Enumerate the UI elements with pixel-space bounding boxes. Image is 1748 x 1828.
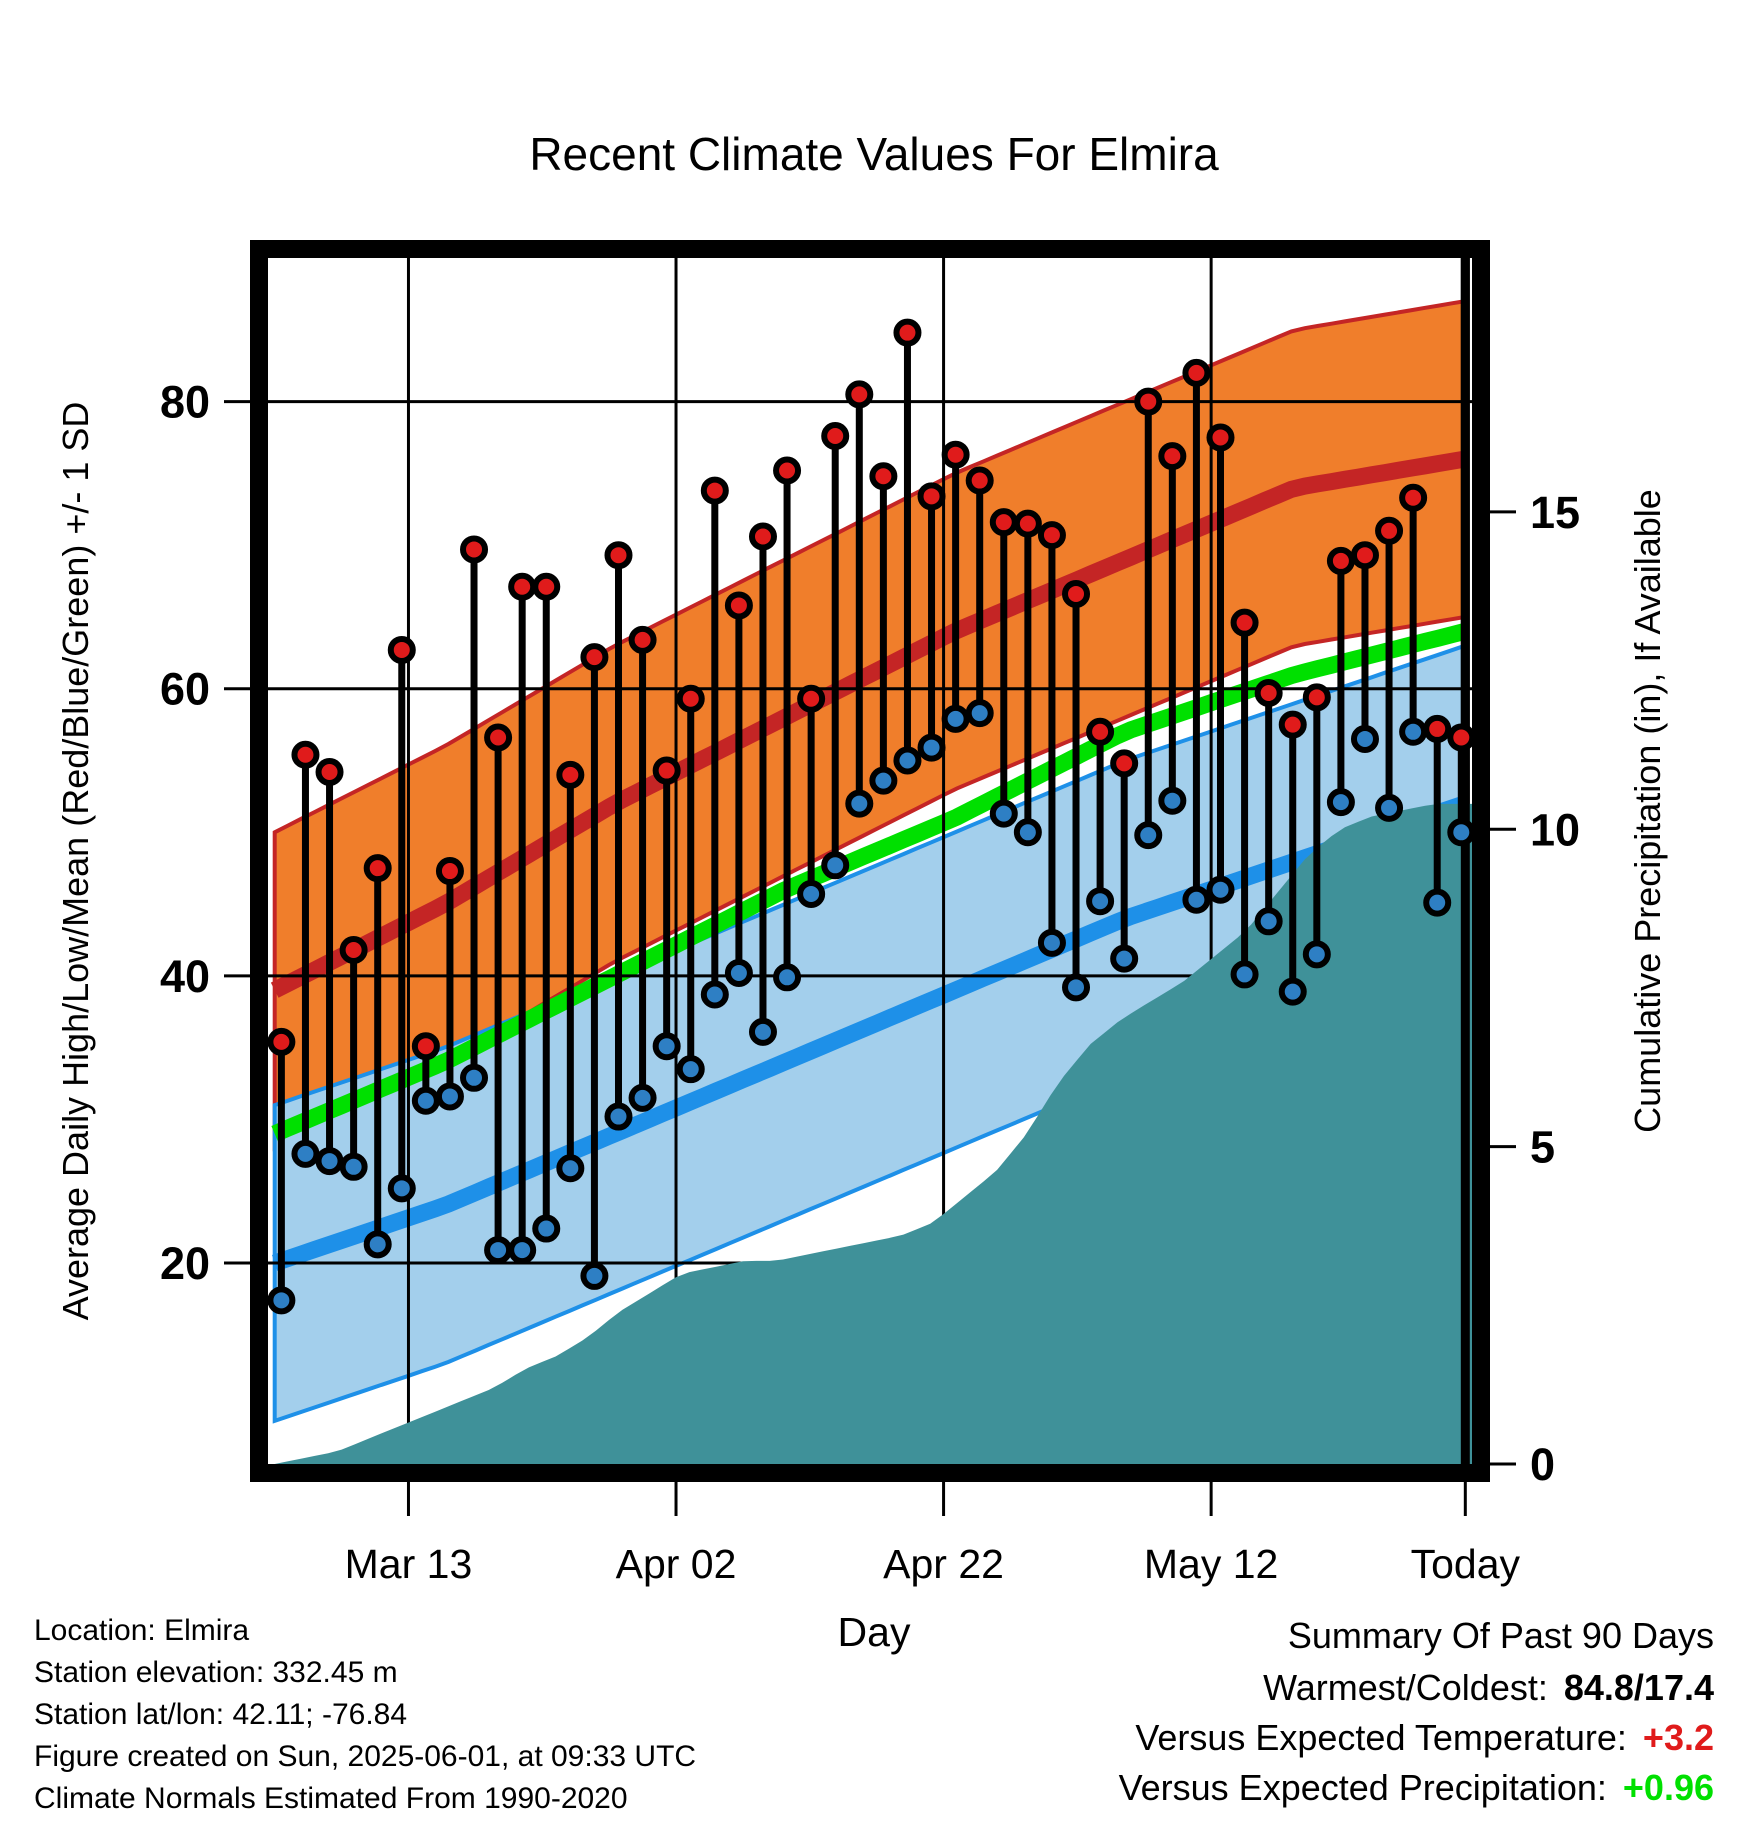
low-marker bbox=[1017, 821, 1039, 843]
low-marker bbox=[463, 1067, 485, 1089]
high-marker bbox=[343, 939, 365, 961]
low-marker bbox=[1209, 879, 1231, 901]
climate-chart: 90DaysRecent Climate Values For Elmira20… bbox=[0, 0, 1748, 1828]
high-marker bbox=[1113, 752, 1135, 774]
low-marker bbox=[319, 1150, 341, 1172]
footer-line-3: Figure created on Sun, 2025-06-01, at 09… bbox=[34, 1740, 696, 1773]
high-marker bbox=[1065, 583, 1087, 605]
high-marker bbox=[1089, 721, 1111, 743]
low-marker bbox=[391, 1177, 413, 1199]
low-marker bbox=[1306, 943, 1328, 965]
high-marker bbox=[319, 761, 341, 783]
high-marker bbox=[1330, 550, 1352, 572]
y2tick-label-3: 15 bbox=[1530, 487, 1580, 538]
y2tick-label-0: 0 bbox=[1530, 1439, 1555, 1490]
low-marker bbox=[1426, 892, 1448, 914]
low-marker bbox=[535, 1218, 557, 1240]
summary-value-1: +3.2 bbox=[1643, 1717, 1714, 1758]
low-marker bbox=[824, 854, 846, 876]
y2tick-label-2: 10 bbox=[1530, 804, 1580, 855]
high-marker bbox=[656, 760, 678, 782]
high-marker bbox=[1234, 612, 1256, 634]
high-marker bbox=[270, 1031, 292, 1053]
high-marker bbox=[487, 727, 509, 749]
summary-label-2: Versus Expected Precipitation: bbox=[1119, 1767, 1607, 1808]
low-marker bbox=[343, 1156, 365, 1178]
high-marker bbox=[1354, 544, 1376, 566]
summary-value-0: 84.8/17.4 bbox=[1564, 1667, 1714, 1708]
high-marker bbox=[872, 465, 894, 487]
low-marker bbox=[1137, 824, 1159, 846]
y-axis-label: Average Daily High/Low/Mean (Red/Blue/Gr… bbox=[55, 402, 96, 1321]
high-marker bbox=[1450, 727, 1472, 749]
low-marker bbox=[1330, 791, 1352, 813]
low-marker bbox=[1161, 790, 1183, 812]
high-marker bbox=[463, 538, 485, 560]
high-marker bbox=[752, 526, 774, 548]
high-marker bbox=[921, 485, 943, 507]
footer-line-0: Location: Elmira bbox=[34, 1614, 249, 1647]
low-marker bbox=[1089, 890, 1111, 912]
high-marker bbox=[680, 688, 702, 710]
ytick-label-2: 60 bbox=[160, 664, 210, 715]
low-marker bbox=[270, 1289, 292, 1311]
low-marker bbox=[776, 966, 798, 988]
footer-line-1: Station elevation: 332.45 m bbox=[34, 1656, 398, 1689]
high-marker bbox=[1185, 362, 1207, 384]
high-marker bbox=[632, 629, 654, 651]
high-marker bbox=[583, 646, 605, 668]
ytick-label-3: 80 bbox=[160, 377, 210, 428]
low-marker bbox=[800, 883, 822, 905]
low-marker bbox=[1065, 976, 1087, 998]
ytick-label-0: 20 bbox=[160, 1238, 210, 1289]
y2-axis-label: Cumulative Precipitation (in), If Availa… bbox=[1627, 489, 1668, 1133]
high-marker bbox=[776, 459, 798, 481]
low-marker bbox=[367, 1233, 389, 1255]
high-marker bbox=[896, 322, 918, 344]
low-marker bbox=[1402, 721, 1424, 743]
low-marker bbox=[1185, 889, 1207, 911]
footer-line-4: Climate Normals Estimated From 1990-2020 bbox=[34, 1782, 628, 1815]
high-marker bbox=[969, 470, 991, 492]
high-marker bbox=[1161, 445, 1183, 467]
low-marker bbox=[993, 803, 1015, 825]
low-marker bbox=[704, 984, 726, 1006]
high-marker bbox=[511, 576, 533, 598]
low-marker bbox=[583, 1265, 605, 1287]
low-marker bbox=[1234, 963, 1256, 985]
low-marker bbox=[415, 1090, 437, 1112]
summary-label-1: Versus Expected Temperature: bbox=[1135, 1717, 1627, 1758]
xtick-label-2: Apr 22 bbox=[883, 1541, 1004, 1587]
footer-line-2: Station lat/lon: 42.11; -76.84 bbox=[34, 1698, 407, 1731]
low-marker bbox=[969, 702, 991, 724]
high-marker bbox=[294, 744, 316, 766]
xtick-label-1: Apr 02 bbox=[616, 1541, 737, 1587]
low-marker bbox=[632, 1087, 654, 1109]
high-marker bbox=[439, 860, 461, 882]
high-marker bbox=[535, 576, 557, 598]
high-marker bbox=[848, 383, 870, 405]
xtick-label-3: May 12 bbox=[1144, 1541, 1278, 1587]
low-marker bbox=[872, 770, 894, 792]
low-marker bbox=[607, 1106, 629, 1128]
low-marker bbox=[752, 1021, 774, 1043]
low-marker bbox=[656, 1035, 678, 1057]
high-marker bbox=[559, 764, 581, 786]
low-marker bbox=[1258, 910, 1280, 932]
high-marker bbox=[945, 444, 967, 466]
low-marker bbox=[1113, 948, 1135, 970]
low-marker bbox=[487, 1239, 509, 1261]
high-marker bbox=[800, 688, 822, 710]
high-marker bbox=[391, 639, 413, 661]
high-marker bbox=[367, 857, 389, 879]
low-marker bbox=[559, 1157, 581, 1179]
high-marker bbox=[1209, 426, 1231, 448]
low-marker bbox=[728, 962, 750, 984]
high-marker bbox=[1137, 391, 1159, 413]
low-marker bbox=[1282, 981, 1304, 1003]
low-marker bbox=[1354, 728, 1376, 750]
low-marker bbox=[1378, 797, 1400, 819]
high-marker bbox=[824, 425, 846, 447]
chart-title: Recent Climate Values For Elmira bbox=[529, 128, 1219, 180]
low-marker bbox=[1450, 821, 1472, 843]
high-marker bbox=[993, 511, 1015, 533]
summary-value-2: +0.96 bbox=[1623, 1767, 1714, 1808]
high-marker bbox=[607, 544, 629, 566]
low-marker bbox=[294, 1143, 316, 1165]
high-marker bbox=[1258, 682, 1280, 704]
high-marker bbox=[1041, 524, 1063, 546]
high-marker bbox=[1282, 714, 1304, 736]
low-marker bbox=[511, 1239, 533, 1261]
low-marker bbox=[921, 737, 943, 759]
high-marker bbox=[1017, 513, 1039, 535]
high-marker bbox=[1306, 686, 1328, 708]
low-marker bbox=[680, 1058, 702, 1080]
low-marker bbox=[1041, 932, 1063, 954]
ytick-label-1: 40 bbox=[160, 951, 210, 1002]
xtick-label-0: Mar 13 bbox=[345, 1541, 473, 1587]
low-marker bbox=[848, 793, 870, 815]
high-marker bbox=[1402, 487, 1424, 509]
high-marker bbox=[1426, 718, 1448, 740]
summary-label-0: Warmest/Coldest: bbox=[1263, 1667, 1548, 1708]
chart-canvas: 90DaysRecent Climate Values For Elmira20… bbox=[0, 0, 1748, 1828]
low-marker bbox=[945, 708, 967, 730]
high-marker bbox=[704, 480, 726, 502]
xtick-label-4: Today bbox=[1411, 1541, 1521, 1587]
low-marker bbox=[439, 1085, 461, 1107]
y2tick-label-1: 5 bbox=[1530, 1122, 1555, 1173]
high-marker bbox=[415, 1035, 437, 1057]
high-marker bbox=[1378, 520, 1400, 542]
high-marker bbox=[728, 594, 750, 616]
x-axis-label: Day bbox=[838, 1609, 911, 1655]
summary-heading: Summary Of Past 90 Days bbox=[1288, 1615, 1714, 1656]
low-marker bbox=[896, 750, 918, 772]
